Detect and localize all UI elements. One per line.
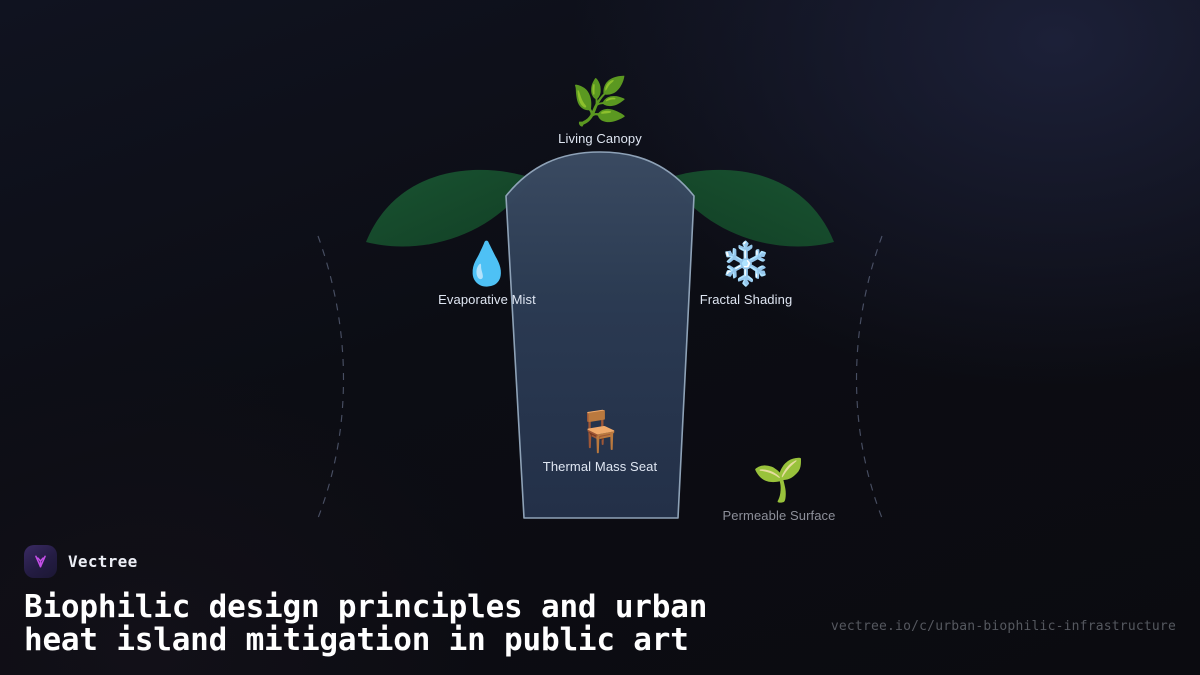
slide-canvas: 🌿 Living Canopy 💧 Evaporative Mist ❄️ Fr… — [0, 0, 1200, 675]
node-evaporative-mist[interactable]: 💧 Evaporative Mist — [438, 243, 536, 307]
footer: Vectree Biophilic design principles and … — [24, 545, 1176, 657]
node-living-canopy[interactable]: 🌿 Living Canopy — [558, 78, 642, 146]
seedling-icon: 🌱 — [753, 459, 805, 501]
node-label-permeable-surface: Permeable Surface — [723, 508, 836, 523]
node-label-living-canopy: Living Canopy — [558, 131, 642, 146]
node-fractal-shading[interactable]: ❄️ Fractal Shading — [700, 243, 793, 307]
brand-lockup[interactable]: Vectree — [24, 545, 1176, 578]
water-droplet-icon: 💧 — [461, 243, 513, 285]
site-url: vectree.io/c/urban-biophilic-infrastruct… — [831, 619, 1176, 634]
brand-wordmark: Vectree — [68, 552, 138, 571]
node-permeable-surface[interactable]: 🌱 Permeable Surface — [723, 459, 836, 523]
dashed-guide-left — [318, 236, 344, 518]
node-thermal-mass-seat[interactable]: 🪑 Thermal Mass Seat — [543, 412, 657, 474]
chair-icon: 🪑 — [575, 412, 625, 452]
snowflake-icon: ❄️ — [720, 243, 772, 285]
herb-leaves-icon: 🌿 — [571, 78, 628, 124]
node-label-fractal-shading: Fractal Shading — [700, 292, 793, 307]
node-label-evaporative-mist: Evaporative Mist — [438, 292, 536, 307]
vectree-logo-badge — [24, 545, 57, 578]
dashed-guide-right — [857, 236, 883, 518]
page-title: Biophilic design principles and urban he… — [24, 591, 724, 657]
node-label-thermal-mass-seat: Thermal Mass Seat — [543, 459, 657, 474]
vectree-tree-fork-icon — [31, 552, 50, 571]
